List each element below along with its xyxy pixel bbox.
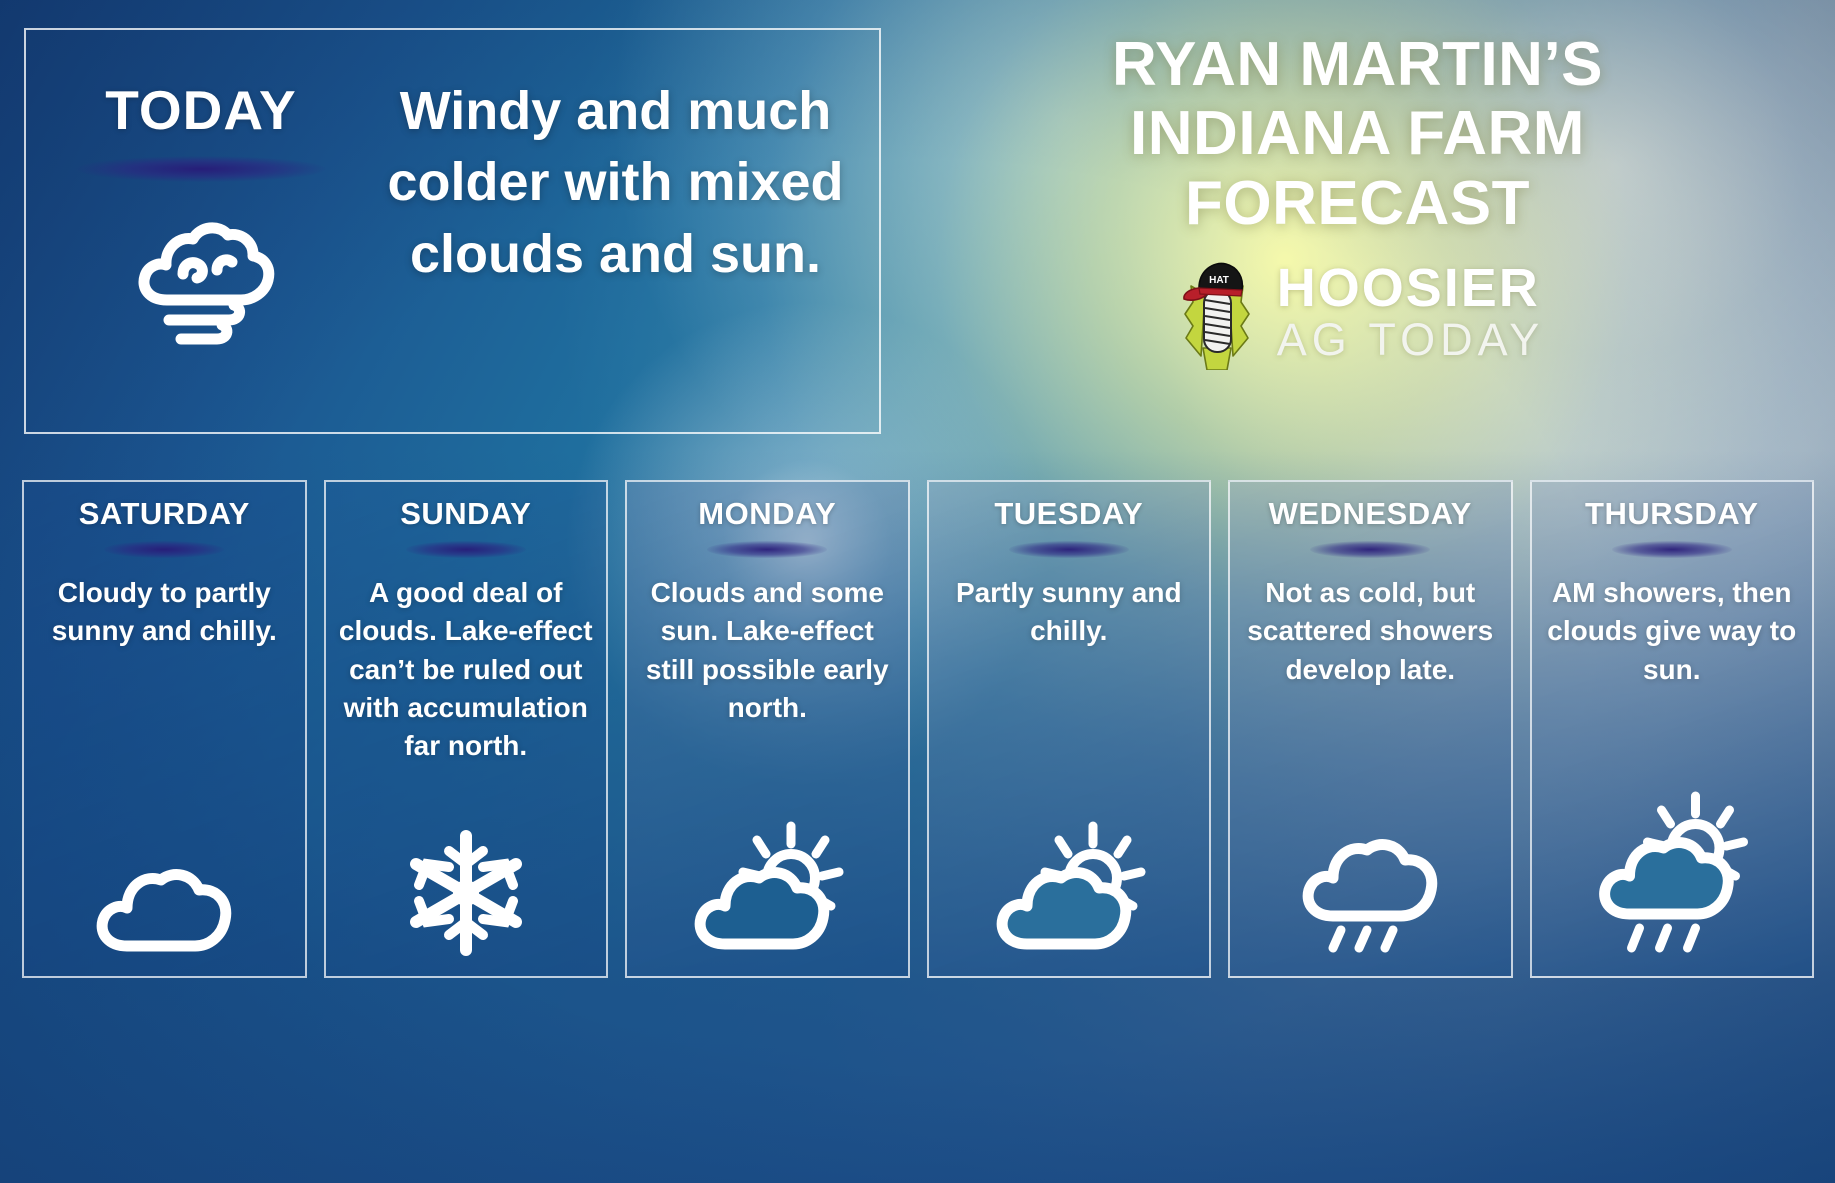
forecast-day-list: SATURDAY Cloudy to partly sunny and chil…	[22, 480, 1814, 978]
forecast-card-saturday: SATURDAY Cloudy to partly sunny and chil…	[22, 480, 307, 978]
day-name-sunday: SUNDAY	[400, 496, 531, 532]
today-description: Windy and much colder with mixed clouds …	[376, 30, 879, 290]
day-name-wednesday: WEDNESDAY	[1269, 496, 1472, 532]
forecast-card-sunday: SUNDAY A good deal of clouds. Lake-effec…	[324, 480, 609, 978]
today-panel: TODAY Windy and much colder with mixed c…	[24, 28, 881, 434]
day-name-saturday: SATURDAY	[79, 496, 250, 532]
snowflake-icon	[401, 828, 531, 958]
forecast-card-monday: MONDAY Clouds and some sun. Lake-effect …	[625, 480, 910, 978]
day-divider-ellipse	[707, 541, 827, 558]
today-label: TODAY	[105, 78, 296, 142]
brand-line-1: RYAN MARTIN’S	[905, 30, 1810, 99]
brand-line-2: INDIANA FARM	[905, 99, 1810, 168]
logo-wordmark: HOOSIER AG TODAY	[1277, 261, 1545, 362]
day-description-monday: Clouds and some sun. Lake-effect still p…	[635, 574, 900, 727]
microphone-with-cap-icon: HAT	[1171, 252, 1263, 370]
day-divider-ellipse	[1612, 541, 1732, 558]
logo-secondary-text: AG TODAY	[1277, 317, 1545, 362]
hoosier-ag-today-logo: HAT HOOSIER AG TODAY	[905, 252, 1810, 370]
day-name-thursday: THURSDAY	[1585, 496, 1758, 532]
cloud-with-rain-icon	[1295, 828, 1445, 958]
day-description-saturday: Cloudy to partly sunny and chilly.	[32, 574, 297, 651]
day-name-tuesday: TUESDAY	[994, 496, 1143, 532]
day-name-monday: MONDAY	[698, 496, 836, 532]
today-divider-ellipse	[76, 156, 326, 182]
day-description-sunday: A good deal of clouds. Lake-effect can’t…	[334, 574, 599, 766]
cloud-icon	[89, 858, 239, 958]
day-divider-ellipse	[1009, 541, 1129, 558]
svg-text:HAT: HAT	[1209, 275, 1229, 286]
brand-line-3: FORECAST	[905, 169, 1810, 238]
brand-header: RYAN MARTIN’S INDIANA FARM FORECAST	[905, 30, 1810, 370]
sun-behind-cloud-icon	[989, 820, 1149, 958]
day-description-wednesday: Not as cold, but scattered showers devel…	[1238, 574, 1503, 689]
forecast-card-wednesday: WEDNESDAY Not as cold, but scattered sho…	[1228, 480, 1513, 978]
day-divider-ellipse	[104, 541, 224, 558]
day-divider-ellipse	[406, 541, 526, 558]
day-divider-ellipse	[1310, 541, 1430, 558]
forecast-card-thursday: THURSDAY AM showers, then clouds give wa…	[1530, 480, 1815, 978]
today-left-column: TODAY	[26, 30, 376, 358]
day-description-tuesday: Partly sunny and chilly.	[937, 574, 1202, 651]
day-description-thursday: AM showers, then clouds give way to sun.	[1540, 574, 1805, 689]
forecast-card-tuesday: TUESDAY Partly sunny and chilly.	[927, 480, 1212, 978]
wind-cloud-icon	[121, 208, 281, 358]
sun-behind-cloud-with-rain-icon	[1589, 790, 1754, 958]
logo-primary-text: HOOSIER	[1277, 261, 1545, 315]
sun-behind-cloud-icon	[687, 820, 847, 958]
